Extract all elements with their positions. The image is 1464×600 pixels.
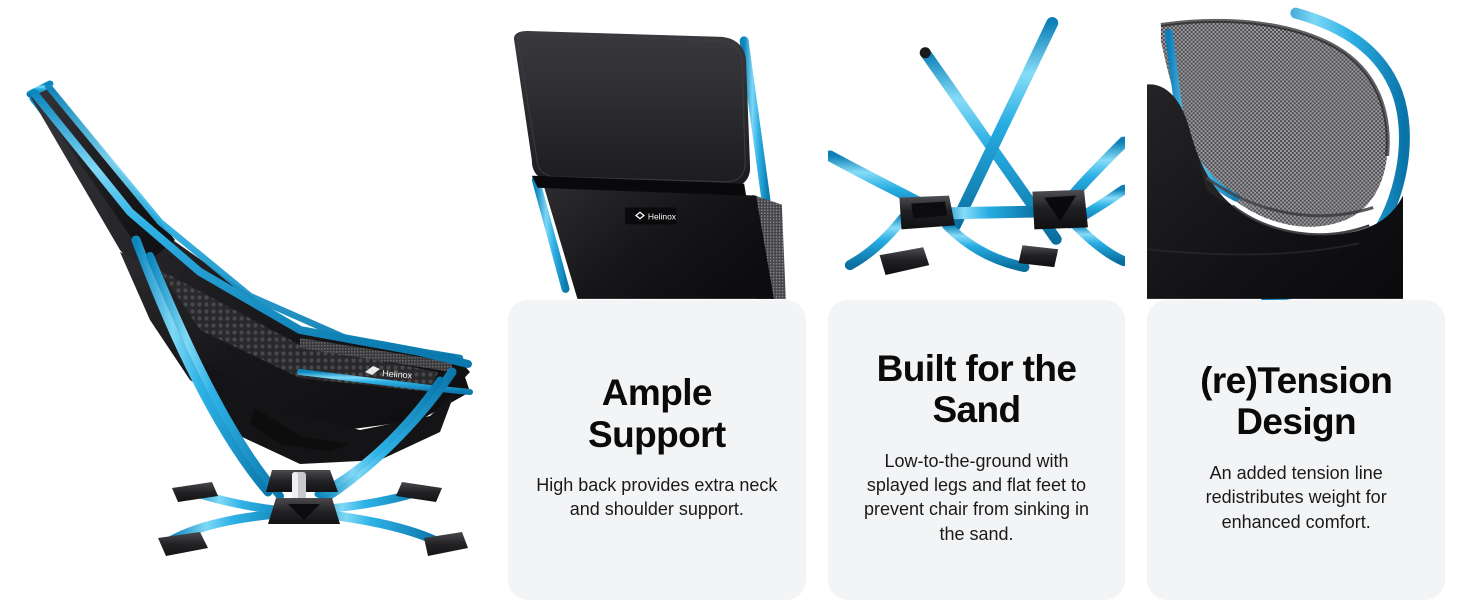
legs-feet-illustration (828, 0, 1126, 300)
helinox-logo-photo1: Helinox (625, 208, 677, 225)
card-body: High back provides extra neck and should… (532, 473, 782, 522)
card-title: (re)Tension Design (1171, 360, 1421, 443)
product-feature-page: Helinox (0, 0, 1464, 600)
hub-left (899, 196, 955, 230)
card-title: Ample Support (532, 372, 782, 455)
high-back-illustration: Helinox (508, 0, 806, 300)
card-body: Low-to-the-ground with splayed legs and … (852, 449, 1102, 547)
photo-legs-feet[interactable] (828, 0, 1126, 300)
card-ample-support[interactable]: Ample Support High back provides extra n… (508, 300, 806, 600)
photo-tension-mesh[interactable] (1147, 0, 1445, 300)
tension-mesh-illustration (1147, 0, 1445, 300)
photo-high-back[interactable]: Helinox (508, 0, 806, 300)
feature-grid: Helinox (500, 0, 1464, 600)
card-built-for-the-sand[interactable]: Built for the Sand Low-to-the-ground wit… (828, 300, 1126, 600)
hub-right (1032, 190, 1088, 230)
card-title: Built for the Sand (852, 348, 1102, 431)
hero-product-image[interactable]: Helinox (0, 0, 500, 600)
svg-text:Helinox: Helinox (648, 211, 677, 221)
card-body: An added tension line redistributes weig… (1171, 461, 1421, 534)
card-retension-design[interactable]: (re)Tension Design An added tension line… (1147, 300, 1445, 600)
hero-chair-illustration: Helinox (0, 0, 500, 600)
